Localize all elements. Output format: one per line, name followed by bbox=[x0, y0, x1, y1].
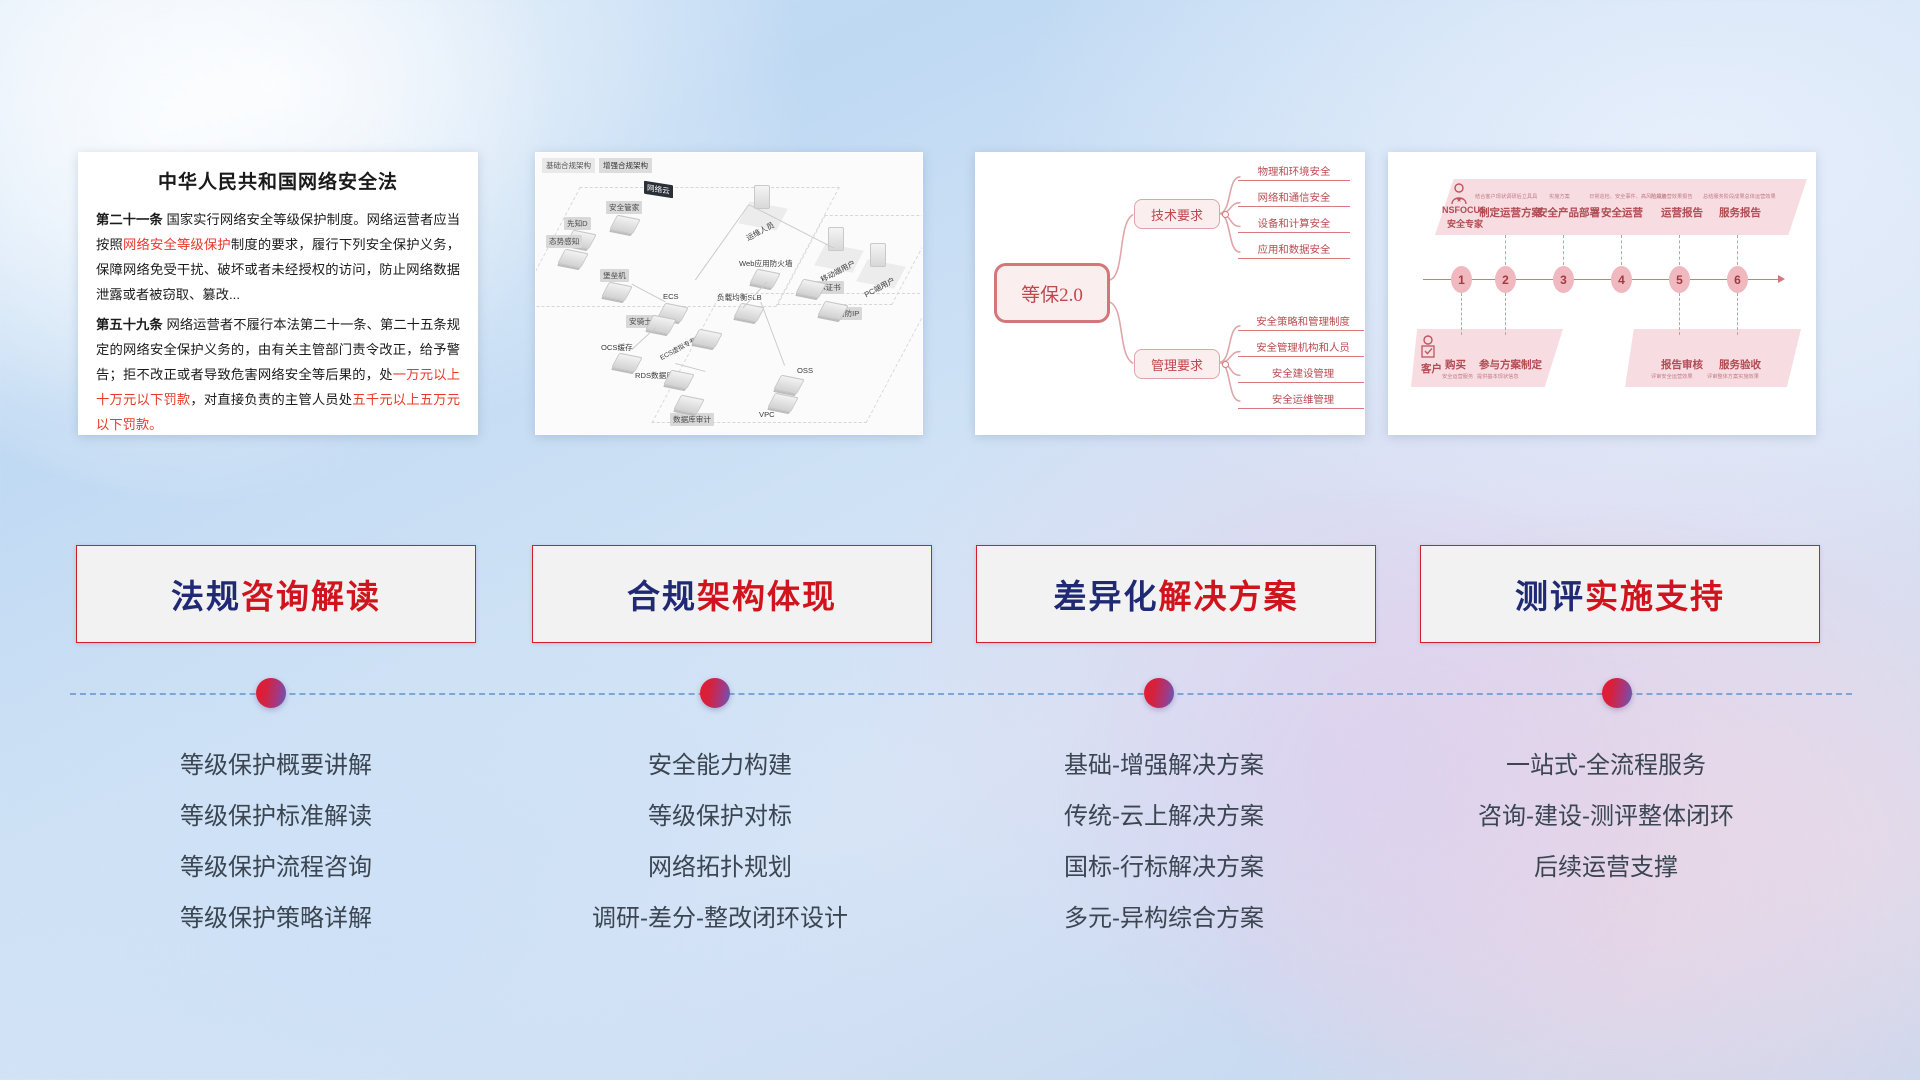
timeline-step-node[interactable]: 3 bbox=[1553, 266, 1574, 293]
list-item: 等级保护流程咨询 bbox=[66, 842, 486, 893]
card-mindmap-dengbao: 等保2.0 技术要求 管理要求 物理和环境安全 网络和通信安全 设备和计算安全 … bbox=[975, 152, 1365, 435]
heading-prefix: 测评 bbox=[1515, 570, 1585, 618]
detail-list-regulation-consulting: 等级保护概要讲解等级保护标准解读等级保护流程咨询等级保护策略详解 bbox=[66, 740, 486, 944]
architecture-node-label: 先知D bbox=[564, 217, 591, 230]
timeline-customer-name: 客户 bbox=[1421, 361, 1442, 376]
law-title: 中华人民共和国网络安全法 bbox=[96, 167, 460, 194]
timeline-step-label: 服务报告 bbox=[1719, 205, 1761, 220]
timeline-step-sublabel: 提供基本现状信息 bbox=[1477, 373, 1519, 380]
mindmap-branch-management: 管理要求 bbox=[1134, 349, 1220, 379]
architecture-node-label: 数据库审计 bbox=[670, 413, 714, 426]
list-item: 网络拓扑规划 bbox=[510, 842, 930, 893]
detail-list-compliance-architecture: 安全能力构建等级保护对标网络拓扑规划调研-差分-整改闭环设计 bbox=[510, 740, 930, 944]
timeline-axis-arrow bbox=[1778, 275, 1785, 283]
heading-card-compliance-architecture[interactable]: 合规架构体现 bbox=[532, 545, 932, 643]
architecture-tab-basic[interactable]: 基础合规架构 bbox=[542, 158, 595, 173]
mindmap-leaf: 物理和环境安全 bbox=[1238, 163, 1350, 181]
detail-list-differentiated-solution: 基础-增强解决方案传统-云上解决方案国标-行标解决方案多元-异构综合方案 bbox=[954, 740, 1374, 944]
list-item: 安全能力构建 bbox=[510, 740, 930, 791]
timeline-step-label: 服务验收 bbox=[1719, 357, 1761, 372]
detail-list-row: 等级保护概要讲解等级保护标准解读等级保护流程咨询等级保护策略详解 安全能力构建等… bbox=[0, 740, 1920, 970]
mindmap-leaf: 安全运维管理 bbox=[1238, 391, 1365, 409]
law-text-run: 第五十九条 bbox=[96, 317, 163, 332]
architecture-tab-group: 基础合规架构 增强合规架构 bbox=[542, 158, 652, 173]
heading-row: 法规咨询解读 合规架构体现 差异化解决方案 测评实施支持 bbox=[0, 545, 1920, 650]
architecture-node-label: OCS缓存 bbox=[598, 341, 636, 354]
architecture-node-label: 态势感知 bbox=[546, 235, 582, 248]
law-text-run: 网络安全等级保护 bbox=[123, 237, 231, 252]
list-item: 咨询-建设-测评整体闭环 bbox=[1396, 791, 1816, 842]
heading-prefix: 法规 bbox=[171, 570, 241, 618]
mindmap-leaf: 设备和计算安全 bbox=[1238, 215, 1350, 233]
detail-list-assessment-support: 一站式-全流程服务咨询-建设-测评整体闭环后续运营支撑 bbox=[1396, 740, 1816, 893]
svg-text:★: ★ bbox=[1456, 196, 1462, 204]
list-item: 等级保护对标 bbox=[510, 791, 930, 842]
card-row: 中华人民共和国网络安全法 第二十一条 国家实行网络安全等级保护制度。网络运营者应… bbox=[0, 152, 1920, 442]
timeline-step-node[interactable]: 6 bbox=[1727, 266, 1748, 293]
stage-axis bbox=[0, 662, 1920, 737]
heading-suffix: 实施支持 bbox=[1585, 570, 1725, 618]
architecture-node-label: Web应用防火墙 bbox=[736, 257, 795, 270]
timeline-step-label: 报告审核 bbox=[1661, 357, 1703, 372]
timeline-step-label: 购买 bbox=[1445, 357, 1466, 372]
heading-card-differentiated-solution[interactable]: 差异化解决方案 bbox=[976, 545, 1376, 643]
list-item: 等级保护策略详解 bbox=[66, 893, 486, 944]
stage-marker-dot bbox=[256, 678, 286, 708]
heading-suffix: 咨询解读 bbox=[241, 570, 381, 618]
timeline-step-node[interactable]: 4 bbox=[1611, 266, 1632, 293]
person-star-icon: ★ bbox=[1449, 183, 1469, 205]
heading-card-regulation-consulting[interactable]: 法规咨询解读 bbox=[76, 545, 476, 643]
architecture-node-label: ECS bbox=[660, 291, 682, 302]
mindmap-root-node: 等保2.0 bbox=[994, 263, 1110, 323]
mindmap-collapse-dot-technical[interactable] bbox=[1222, 211, 1229, 218]
architecture-node-label: OSS bbox=[794, 365, 816, 376]
mindmap-leaf: 网络和通信安全 bbox=[1238, 189, 1350, 207]
timeline-step-node[interactable]: 2 bbox=[1495, 266, 1516, 293]
timeline-step-node[interactable]: 1 bbox=[1451, 266, 1472, 293]
mindmap-collapse-dot-management[interactable] bbox=[1222, 361, 1229, 368]
mindmap-branch-technical: 技术要求 bbox=[1134, 199, 1220, 229]
mindmap-leaf: 安全管理机构和人员 bbox=[1238, 339, 1365, 357]
timeline-step-sublabel: 阶段运营效果报告 bbox=[1651, 193, 1693, 200]
timeline-step-label: 运营报告 bbox=[1661, 205, 1703, 220]
stage-axis-dashed-line bbox=[70, 693, 1852, 695]
law-text-run: 第二十一条 bbox=[96, 212, 163, 227]
card-architecture-diagram: 基础合规架构 增强合规架构 网络云 安全管家 先知D 态势感知 bbox=[535, 152, 923, 435]
mindmap-leaf: 应用和数据安全 bbox=[1238, 241, 1350, 259]
list-item: 国标-行标解决方案 bbox=[954, 842, 1374, 893]
list-item: 基础-增强解决方案 bbox=[954, 740, 1374, 791]
stage-marker-dot bbox=[700, 678, 730, 708]
list-item: 等级保护概要讲解 bbox=[66, 740, 486, 791]
timeline-step-sublabel: 实施方案 bbox=[1549, 193, 1570, 200]
list-item: 等级保护标准解读 bbox=[66, 791, 486, 842]
mindmap-leaf: 安全建设管理 bbox=[1238, 365, 1365, 383]
law-paragraph: 第二十一条 国家实行网络安全等级保护制度。网络运营者应当按照网络安全等级保护制度… bbox=[96, 207, 460, 307]
timeline-step-sublabel: 结合客户现状调研后立具具 bbox=[1475, 193, 1537, 200]
architecture-node-label: 堡垒机 bbox=[600, 269, 629, 282]
timeline-step-label: 制定运营方案 bbox=[1479, 205, 1542, 220]
architecture-canvas: 基础合规架构 增强合规架构 网络云 安全管家 先知D 态势感知 bbox=[536, 153, 922, 434]
architecture-node-label: VPC bbox=[756, 409, 778, 420]
timeline-step-sublabel: 评审安全运营效果 bbox=[1651, 373, 1693, 380]
person-check-icon bbox=[1419, 335, 1437, 361]
timeline-provider-role: 安全专家 bbox=[1447, 217, 1483, 230]
timeline-step-node[interactable]: 5 bbox=[1669, 266, 1690, 293]
card-cybersecurity-law: 中华人民共和国网络安全法 第二十一条 国家实行网络安全等级保护制度。网络运营者应… bbox=[78, 152, 478, 435]
timeline-step-sublabel: 总结服务阶段成果总体运营效果 bbox=[1703, 193, 1776, 200]
list-item: 传统-云上解决方案 bbox=[954, 791, 1374, 842]
heading-prefix: 差异化 bbox=[1054, 570, 1159, 618]
list-item: 一站式-全流程服务 bbox=[1396, 740, 1816, 791]
timeline-canvas: ★ NSFOCUS 安全专家 客户 1 购买 安全运营服务 2 制定运营方案 bbox=[1389, 153, 1815, 434]
stage-marker-dot bbox=[1144, 678, 1174, 708]
architecture-tab-enhanced[interactable]: 增强合规架构 bbox=[599, 158, 652, 173]
law-body: 中华人民共和国网络安全法 第二十一条 国家实行网络安全等级保护制度。网络运营者应… bbox=[79, 153, 477, 435]
timeline-step-label: 参与方案制定 bbox=[1479, 357, 1542, 372]
list-item: 调研-差分-整改闭环设计 bbox=[510, 893, 930, 944]
timeline-step-sublabel: 评审整体方案实施效果 bbox=[1707, 373, 1759, 380]
timeline-step-sublabel: 安全运营服务 bbox=[1442, 373, 1473, 380]
stage-marker-dot bbox=[1602, 678, 1632, 708]
architecture-node-label: 安全管家 bbox=[606, 201, 642, 214]
heading-suffix: 架构体现 bbox=[697, 570, 837, 618]
list-item: 多元-异构综合方案 bbox=[954, 893, 1374, 944]
card-service-timeline: ★ NSFOCUS 安全专家 客户 1 购买 安全运营服务 2 制定运营方案 bbox=[1388, 152, 1816, 435]
mindmap-leaf: 安全策略和管理制度 bbox=[1238, 313, 1365, 331]
list-item: 后续运营支撑 bbox=[1396, 842, 1816, 893]
law-paragraph: 第五十九条 网络运营者不履行本法第二十一条、第二十五条规定的网络安全保护义务的，… bbox=[96, 312, 460, 435]
heading-card-assessment-support[interactable]: 测评实施支持 bbox=[1420, 545, 1820, 643]
architecture-node-label: 负载均衡SLB bbox=[714, 291, 765, 304]
timeline-step-label: 安全产品部署 bbox=[1537, 205, 1600, 220]
mindmap-canvas: 等保2.0 技术要求 管理要求 物理和环境安全 网络和通信安全 设备和计算安全 … bbox=[976, 153, 1364, 434]
law-text-run: ，对直接负责的主管人员处 bbox=[190, 392, 352, 407]
heading-suffix: 解决方案 bbox=[1159, 570, 1299, 618]
timeline-step-label: 安全运营 bbox=[1601, 205, 1643, 220]
heading-prefix: 合规 bbox=[627, 570, 697, 618]
